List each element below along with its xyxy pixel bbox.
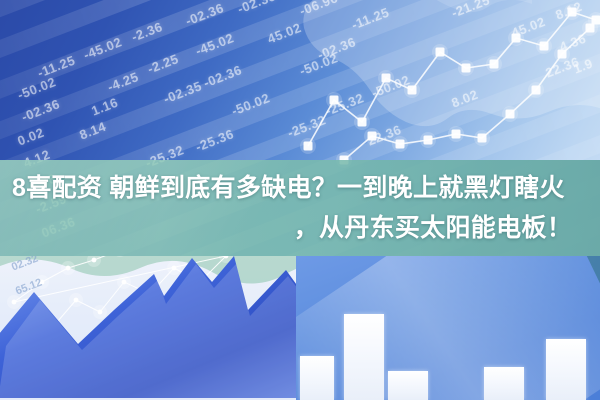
ticker-number: -25.36 bbox=[193, 126, 236, 154]
banner-image: -21.2545.028.12-06.96-11.25-02.354.36-02… bbox=[0, 0, 600, 400]
ticker-number: 1.16 bbox=[89, 95, 120, 119]
ticker-number: -2.25 bbox=[145, 51, 180, 77]
chart-node-glow bbox=[564, 4, 580, 20]
ticker-number: 8.14 bbox=[77, 119, 108, 143]
headline-block: 8喜配资 朝鲜到底有多缺电？一到晚上就黑灯瞎火 ，从丹东买太阳能电板！ bbox=[0, 160, 600, 256]
ticker-number: -11.25 bbox=[35, 52, 77, 80]
chart-node-glow bbox=[458, 60, 474, 76]
bottom-chart-background: 02.3265.12 bbox=[0, 256, 600, 400]
chart-node-glow bbox=[326, 92, 342, 108]
chart-node-glow bbox=[300, 138, 316, 154]
ticker-number: -4.25 bbox=[105, 69, 140, 95]
chart-node-glow bbox=[528, 82, 544, 98]
chart-node-glow bbox=[554, 46, 570, 62]
chart-node-glow bbox=[354, 114, 370, 130]
chart-line bbox=[344, 28, 590, 160]
bar-column bbox=[388, 371, 428, 400]
chart-line bbox=[308, 12, 596, 146]
headline-line-2: ，从丹东买太阳能电板！ bbox=[6, 208, 594, 248]
bar-column bbox=[300, 356, 334, 400]
ticker-number: -45.02 bbox=[193, 30, 236, 58]
ticker-number: -45.02 bbox=[81, 34, 124, 62]
chart-node-glow bbox=[536, 38, 552, 54]
ticker-number: 0.02 bbox=[15, 125, 46, 149]
chart-node-glow bbox=[508, 30, 524, 46]
chart-node-glow bbox=[448, 126, 464, 142]
chart-node-glow bbox=[364, 128, 380, 144]
chart-node-glow bbox=[392, 136, 408, 152]
ticker-number: -02.36 bbox=[183, 0, 226, 28]
chart-node-glow bbox=[502, 106, 518, 122]
chart-node-glow bbox=[474, 130, 490, 146]
trend-ribbon-highlight bbox=[0, 264, 330, 400]
glowing-line-chart bbox=[300, 0, 600, 169]
bar-column bbox=[344, 314, 384, 400]
chart-node-glow bbox=[404, 82, 420, 98]
chart-node-glow bbox=[378, 70, 394, 86]
bottom-right-panel bbox=[296, 256, 600, 400]
chart-node-glow bbox=[582, 20, 598, 36]
chart-node-glow bbox=[432, 44, 448, 60]
ticker-number: -02.35 bbox=[235, 0, 278, 17]
headline-line-1: 8喜配资 朝鲜到底有多缺电？一到晚上就黑灯瞎火 bbox=[6, 168, 594, 208]
ticker-number: -02.36 bbox=[201, 62, 244, 90]
ticker-number: -2.36 bbox=[129, 19, 164, 45]
ticker-number: -02.35 bbox=[161, 78, 204, 106]
bar-column bbox=[546, 339, 586, 400]
bar-column bbox=[484, 367, 524, 400]
bar-chart-columns bbox=[296, 280, 600, 400]
chart-node-glow bbox=[420, 132, 436, 148]
ticker-number: -50.02 bbox=[229, 90, 272, 118]
chart-node-glow bbox=[486, 56, 502, 72]
